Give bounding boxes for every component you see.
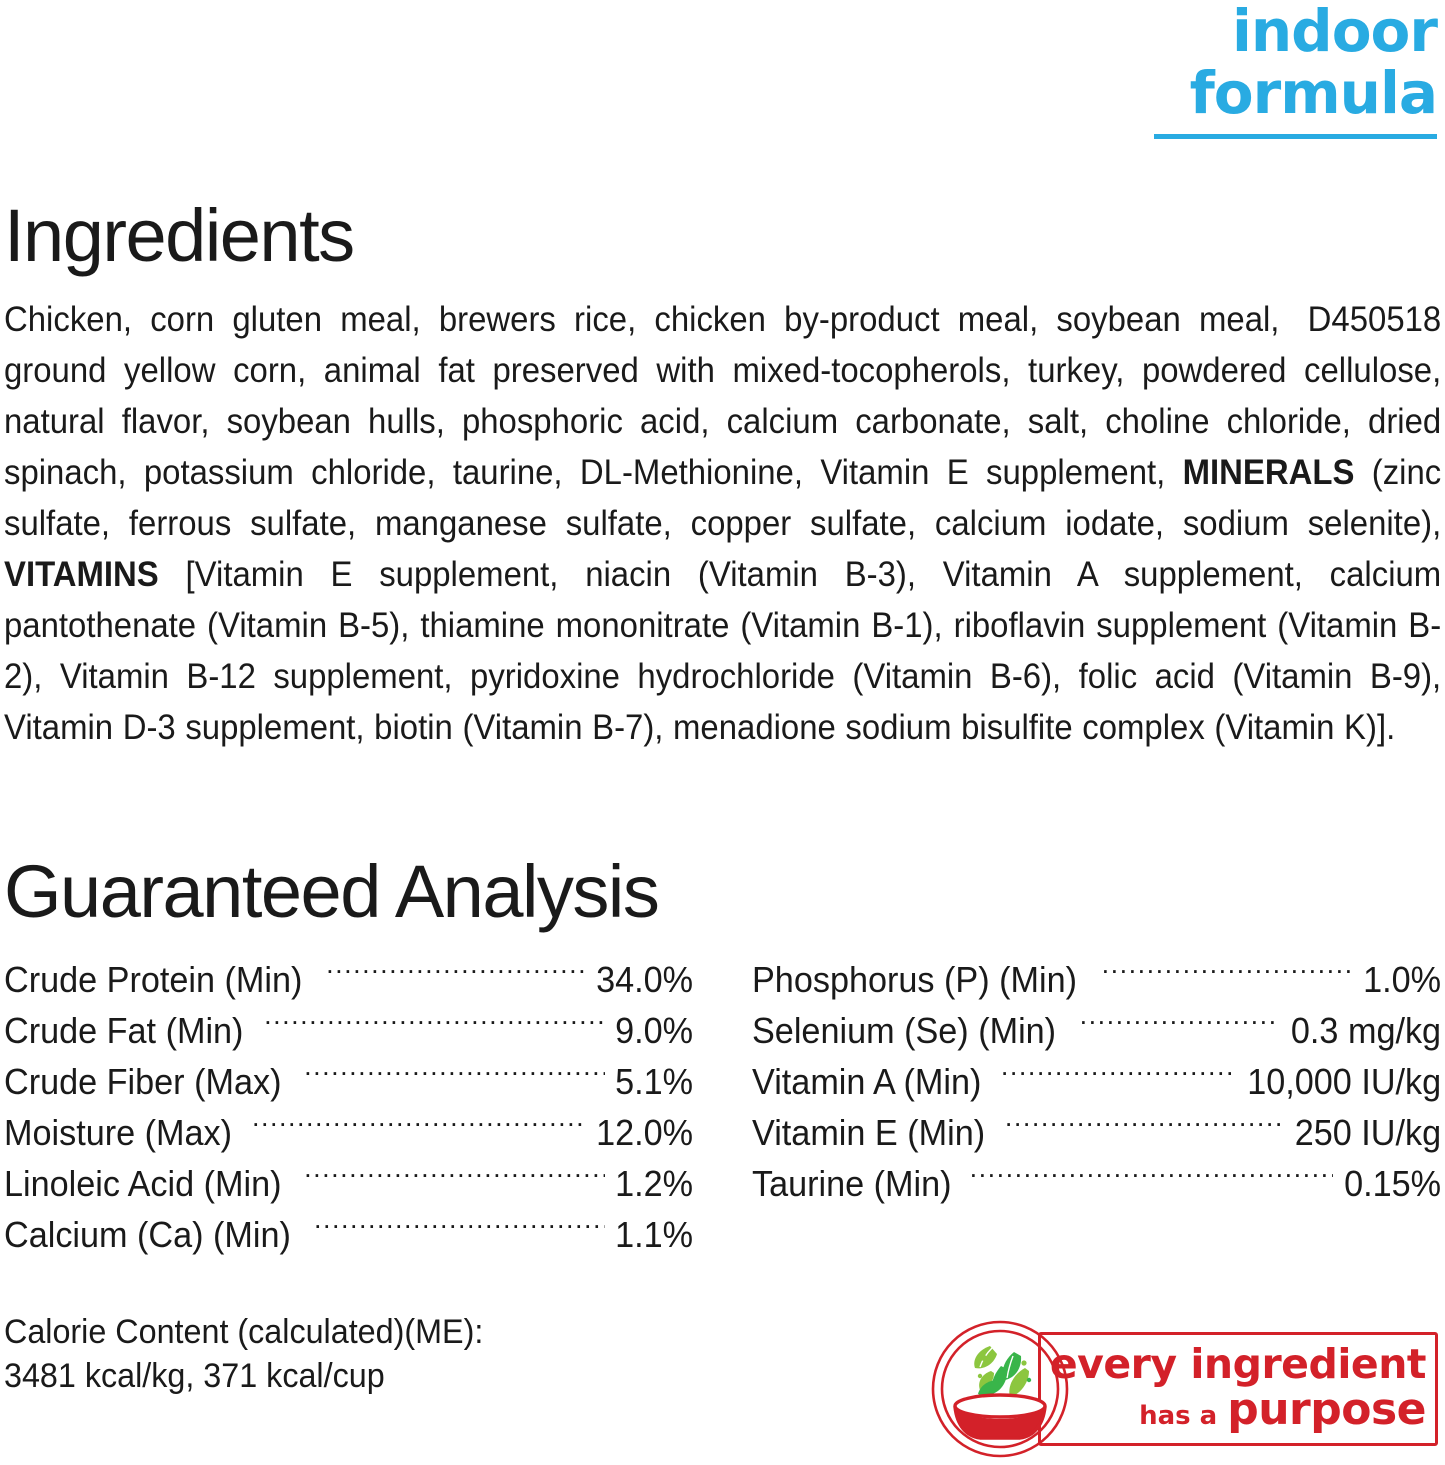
- analysis-row: Calcium (Ca) (Min)1.1%: [4, 1209, 694, 1260]
- analysis-row-value: 5.1%: [616, 1056, 694, 1107]
- calorie-content-label: Calorie Content (calculated)(ME):: [4, 1310, 483, 1354]
- analysis-row: Linoleic Acid (Min)1.2%: [4, 1158, 694, 1209]
- calorie-content-values: 3481 kcal/kg, 371 kcal/cup: [4, 1354, 483, 1398]
- header-divider-rule: [1154, 134, 1437, 139]
- vitamins-label: VITAMINS: [4, 555, 159, 594]
- ingredients-section: Ingredients D450518Chicken, corn gluten …: [4, 196, 1441, 788]
- analysis-row-label: Moisture (Max): [4, 1107, 232, 1158]
- analysis-row: Crude Protein (Min)34.0%: [4, 954, 694, 1005]
- analysis-row-label: Calcium (Ca) (Min): [4, 1209, 291, 1260]
- analysis-row-value: 34.0%: [597, 954, 694, 1005]
- analysis-row-label: Vitamin E (Min): [752, 1107, 985, 1158]
- guaranteed-analysis-section: Guaranteed Analysis Crude Protein (Min)3…: [4, 852, 1441, 1260]
- analysis-row-leader-dots: [326, 956, 585, 992]
- analysis-row-label: Vitamin A (Min): [752, 1056, 981, 1107]
- ingredients-list-text: D450518Chicken, corn gluten meal, brewer…: [4, 294, 1441, 753]
- analysis-row: Taurine (Min)0.15%: [752, 1158, 1442, 1209]
- analysis-row-leader-dots: [314, 1211, 605, 1247]
- analysis-row-leader-dots: [1102, 956, 1353, 992]
- analysis-row-label: Crude Fat (Min): [4, 1005, 243, 1056]
- analysis-row-value: 10,000 IU/kg: [1247, 1056, 1441, 1107]
- ingredients-heading: Ingredients: [4, 196, 1441, 276]
- analysis-left-column: Crude Protein (Min)34.0%Crude Fat (Min)9…: [4, 954, 694, 1260]
- calorie-content-block: Calorie Content (calculated)(ME): 3481 k…: [4, 1310, 509, 1398]
- analysis-row-value: 12.0%: [597, 1107, 694, 1158]
- every-ingredient-has-a-purpose-badge: every ingredient has a purpose: [928, 1318, 1440, 1460]
- analysis-row-label: Taurine (Min): [752, 1158, 952, 1209]
- analysis-row-value: 9.0%: [616, 1005, 694, 1056]
- minerals-label: MINERALS: [1183, 453, 1355, 492]
- analysis-row: Moisture (Max)12.0%: [4, 1107, 694, 1158]
- analysis-row-value: 1.1%: [616, 1209, 694, 1260]
- analysis-row-label: Crude Fiber (Max): [4, 1056, 281, 1107]
- analysis-row-label: Crude Protein (Min): [4, 954, 302, 1005]
- badge-has-a-text: has a: [1139, 1394, 1217, 1438]
- analysis-row-label: Linoleic Acid (Min): [4, 1158, 282, 1209]
- ingredients-text-part-3: [Vitamin E supplement, niacin (Vitamin B…: [4, 555, 1441, 747]
- badge-line-has-a-purpose: has a purpose: [1139, 1386, 1426, 1438]
- badge-text-block: every ingredient has a purpose: [1068, 1334, 1426, 1446]
- analysis-row-value: 1.2%: [616, 1158, 694, 1209]
- guaranteed-analysis-columns: Crude Protein (Min)34.0%Crude Fat (Min)9…: [4, 954, 1441, 1260]
- analysis-row: Selenium (Se) (Min)0.3 mg/kg: [752, 1005, 1442, 1056]
- analysis-row-value: 1.0%: [1363, 954, 1441, 1005]
- formula-header-line-2: formula: [1137, 62, 1437, 124]
- analysis-row-leader-dots: [1001, 1058, 1231, 1094]
- analysis-row-value: 0.15%: [1344, 1158, 1441, 1209]
- analysis-row: Crude Fiber (Max)5.1%: [4, 1056, 694, 1107]
- analysis-row-label: Selenium (Se) (Min): [752, 1005, 1056, 1056]
- analysis-row-leader-dots: [264, 1007, 605, 1043]
- analysis-row-leader-dots: [970, 1160, 1333, 1196]
- badge-line-every-ingredient: every ingredient: [1050, 1342, 1426, 1386]
- analysis-row: Vitamin A (Min)10,000 IU/kg: [752, 1056, 1442, 1107]
- analysis-row-value: 250 IU/kg: [1295, 1107, 1441, 1158]
- analysis-row: Vitamin E (Min)250 IU/kg: [752, 1107, 1442, 1158]
- guaranteed-analysis-heading: Guaranteed Analysis: [4, 852, 1441, 932]
- lot-code: D450518: [1308, 294, 1442, 345]
- product-formula-header: indoor formula: [1137, 0, 1437, 139]
- analysis-row-leader-dots: [304, 1160, 605, 1196]
- analysis-row-label: Phosphorus (P) (Min): [752, 954, 1077, 1005]
- analysis-row-leader-dots: [1080, 1007, 1277, 1043]
- analysis-row-leader-dots: [1005, 1109, 1281, 1145]
- formula-header-line-1: indoor: [1137, 0, 1437, 62]
- analysis-row: Phosphorus (P) (Min)1.0%: [752, 954, 1442, 1005]
- analysis-row-value: 0.3 mg/kg: [1291, 1005, 1441, 1056]
- analysis-row: Crude Fat (Min)9.0%: [4, 1005, 694, 1056]
- analysis-row-leader-dots: [252, 1109, 585, 1145]
- badge-purpose-text: purpose: [1227, 1386, 1426, 1434]
- analysis-right-column: Phosphorus (P) (Min)1.0%Selenium (Se) (M…: [752, 954, 1442, 1260]
- analysis-row-leader-dots: [304, 1058, 605, 1094]
